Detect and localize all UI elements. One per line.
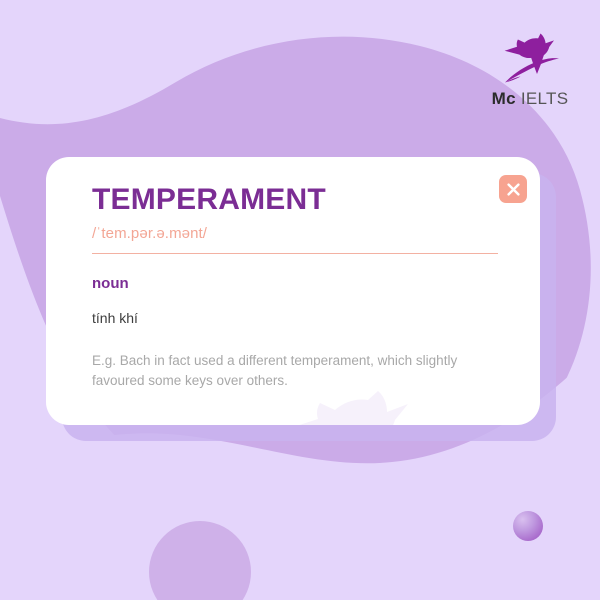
close-button[interactable]	[499, 175, 527, 203]
word-title: TEMPERAMENT	[92, 184, 494, 216]
decorative-sphere	[513, 511, 543, 541]
hummingbird-icon	[493, 31, 567, 87]
brand-logo-name: IELTS	[521, 89, 568, 108]
brand-logo-prefix: Mc	[492, 89, 516, 108]
section-divider	[92, 253, 498, 254]
example-sentence: E.g. Bach in fact used a different tempe…	[92, 351, 504, 393]
background-blob-lower-left	[0, 451, 350, 600]
part-of-speech: noun	[92, 275, 494, 292]
phonetic-transcription: /ˈtem.pər.ə.mənt/	[92, 225, 494, 242]
brand-logo: Mc IELTS	[484, 31, 576, 113]
flashcard-screen: Mc IELTS TEMPERAMENT /ˈtem.pər.ə.mənt/ n…	[0, 0, 600, 600]
card-content: TEMPERAMENT /ˈtem.pər.ə.mənt/ noun tính …	[46, 157, 540, 425]
brand-logo-text: Mc IELTS	[484, 89, 576, 109]
background-circle-small	[149, 521, 251, 600]
vocabulary-card: TEMPERAMENT /ˈtem.pər.ə.mənt/ noun tính …	[46, 157, 540, 425]
close-icon	[506, 182, 521, 197]
translation-text: tính khí	[92, 310, 494, 326]
